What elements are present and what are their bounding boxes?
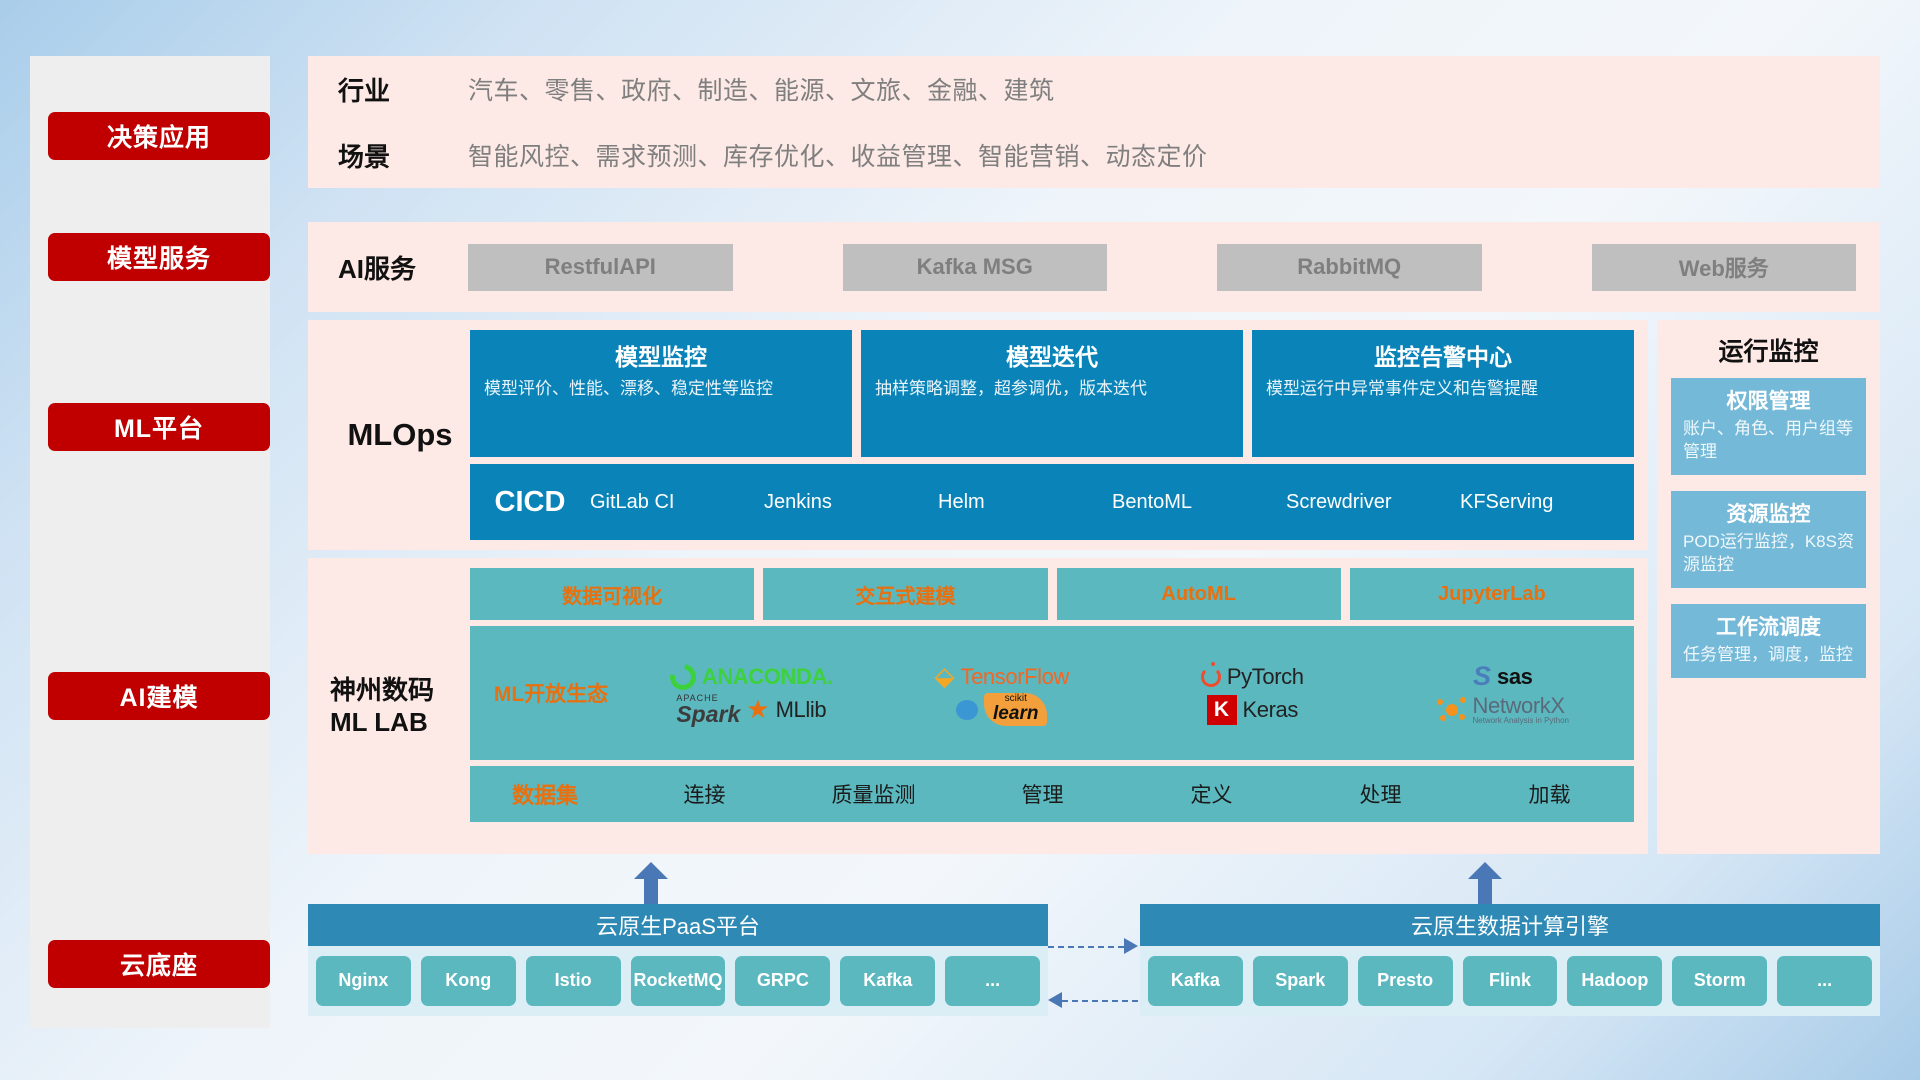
cicd-item-gitlab-ci[interactable]: GitLab CI [590, 491, 764, 514]
pytorch-logo-text: PyTorch [1227, 664, 1304, 690]
cicd-item-kfserving[interactable]: KFServing [1460, 491, 1634, 514]
ai-service-chip-restfulapi[interactable]: RestfulAPI [468, 244, 733, 291]
mlops-card-desc: 模型评价、性能、漂移、稳定性等监控 [484, 378, 838, 401]
bidirectional-link-arrows [1048, 934, 1142, 1020]
pytorch-logo: PyTorch [1127, 660, 1378, 693]
layer-chip-label: 模型服务 [107, 239, 211, 275]
scikit-learn-logo: scikit learn [877, 693, 1128, 726]
layer-chip-cloud-base[interactable]: 云底座 [48, 940, 270, 988]
mlops-card-desc: 模型运行中异常事件定义和告警提醒 [1266, 378, 1620, 401]
tensorflow-mark-icon: ⬙ [935, 661, 955, 692]
dataset-item-definition[interactable]: 定义 [1127, 779, 1296, 809]
layer-chip-label: AI建模 [119, 678, 198, 714]
scenario-value: 智能风控、需求预测、库存优化、收益管理、智能营销、动态定价 [468, 137, 1208, 173]
run-monitoring-title: 运行监控 [1657, 320, 1880, 378]
ml-lab-label: 神州数码 ML LAB [330, 568, 470, 844]
scenario-row: 场景 智能风控、需求预测、库存优化、收益管理、智能营销、动态定价 [308, 122, 1880, 188]
tool-tab-interactive-modeling[interactable]: 交互式建模 [763, 568, 1047, 620]
cicd-item-bentoml[interactable]: BentoML [1112, 491, 1286, 514]
data-engine-header: 云原生数据计算引擎 [1140, 904, 1880, 946]
ai-service-label: AI服务 [338, 249, 468, 286]
decision-application-panel: 行业 汽车、零售、政府、制造、能源、文旅、金融、建筑 场景 智能风控、需求预测、… [308, 56, 1880, 188]
pytorch-flame-icon [1201, 667, 1221, 687]
run-monitoring-card-desc: 任务管理，调度，监控 [1683, 644, 1854, 667]
ai-service-chip-web-service[interactable]: Web服务 [1592, 244, 1857, 291]
spark-star-icon: ★ [746, 694, 769, 725]
data-engine-chip-presto[interactable]: Presto [1358, 956, 1453, 1006]
tensorflow-logo-text: TensorFlow [961, 664, 1069, 690]
architecture-diagram: 决策应用 模型服务 ML平台 AI建模 云底座 行业 汽车、零售、政府、制造、能… [0, 0, 1920, 1080]
cloud-native-data-engine-group: 云原生数据计算引擎 Kafka Spark Presto Flink Hadoo… [1140, 904, 1880, 1016]
paas-chip-kong[interactable]: Kong [421, 956, 516, 1006]
dataset-item-connect[interactable]: 连接 [620, 779, 789, 809]
run-monitoring-panel: 运行监控 权限管理 账户、角色、用户组等管理 资源监控 POD运行监控，K8S资… [1657, 320, 1880, 854]
dataset-item-processing[interactable]: 处理 [1296, 779, 1465, 809]
mlops-card-title: 模型迭代 [875, 338, 1229, 372]
spark-wordmark: APACHE Spark [676, 694, 740, 726]
spark-word-text: Spark [676, 703, 740, 726]
anaconda-logo: ANACONDA. [626, 660, 877, 693]
run-monitoring-card-title: 权限管理 [1683, 385, 1854, 415]
ml-lab-label-line2: ML LAB [330, 706, 434, 739]
data-engine-chip-more[interactable]: ... [1777, 956, 1872, 1006]
tool-tab-jupyterlab[interactable]: JupyterLab [1350, 568, 1634, 620]
tool-tab-automl[interactable]: AutoML [1057, 568, 1341, 620]
mlops-label: MLOps [330, 330, 470, 540]
cicd-item-jenkins[interactable]: Jenkins [764, 491, 938, 514]
cloud-native-paas-group: 云原生PaaS平台 Nginx Kong Istio RocketMQ GRPC… [308, 904, 1048, 1016]
data-engine-chip-flink[interactable]: Flink [1463, 956, 1558, 1006]
paas-chip-rocketmq[interactable]: RocketMQ [631, 956, 726, 1006]
mlops-card-model-iteration[interactable]: 模型迭代 抽样策略调整，超参调优，版本迭代 [861, 330, 1243, 457]
anaconda-ring-icon [665, 658, 701, 694]
data-engine-chip-spark[interactable]: Spark [1253, 956, 1348, 1006]
run-monitoring-card-title: 资源监控 [1683, 498, 1854, 528]
layer-chip-label: 云底座 [120, 946, 198, 982]
keras-logo: K Keras [1127, 693, 1378, 726]
layer-chip-ml-platform[interactable]: ML平台 [48, 403, 270, 451]
anaconda-logo-text: ANACONDA. [702, 664, 833, 690]
layer-chip-label: 决策应用 [107, 118, 211, 154]
dataset-item-management[interactable]: 管理 [958, 779, 1127, 809]
scikit-learn-text: learn [993, 704, 1038, 723]
run-monitoring-card-resources[interactable]: 资源监控 POD运行监控，K8S资源监控 [1671, 491, 1866, 588]
networkx-logo-text: NetworkX [1473, 695, 1570, 717]
dataset-item-quality-monitoring[interactable]: 质量监测 [789, 779, 958, 809]
sas-logo: S sas [1378, 660, 1629, 693]
dataset-bar: 数据集 连接 质量监测 管理 定义 处理 加载 [470, 766, 1634, 822]
mllib-logo-text: MLlib [776, 697, 827, 723]
paas-chip-grpc[interactable]: GRPC [735, 956, 830, 1006]
run-monitoring-card-permissions[interactable]: 权限管理 账户、角色、用户组等管理 [1671, 378, 1866, 475]
mlops-panel: MLOps 模型监控 模型评价、性能、漂移、稳定性等监控 模型迭代 抽样策略调整… [308, 320, 1648, 550]
ai-service-panel: AI服务 RestfulAPI Kafka MSG RabbitMQ Web服务 [308, 222, 1880, 312]
data-engine-chip-storm[interactable]: Storm [1672, 956, 1767, 1006]
mlops-card-title: 监控告警中心 [1266, 338, 1620, 372]
run-monitoring-card-title: 工作流调度 [1683, 611, 1854, 641]
tool-tab-data-visualization[interactable]: 数据可视化 [470, 568, 754, 620]
industry-value: 汽车、零售、政府、制造、能源、文旅、金融、建筑 [468, 71, 1055, 107]
paas-chip-istio[interactable]: Istio [526, 956, 621, 1006]
cicd-bar: CICD GitLab CI Jenkins Helm BentoML Scre… [470, 464, 1634, 540]
data-engine-chip-kafka[interactable]: Kafka [1148, 956, 1243, 1006]
keras-logo-text: Keras [1243, 697, 1298, 723]
ml-lab-label-line1: 神州数码 [330, 674, 434, 707]
ai-service-chip-kafka-msg[interactable]: Kafka MSG [843, 244, 1108, 291]
mlops-card-desc: 抽样策略调整，超参调优，版本迭代 [875, 378, 1229, 401]
dataset-label: 数据集 [470, 778, 620, 810]
mlops-card-title: 模型监控 [484, 338, 838, 372]
up-arrow-paas-to-platform [634, 862, 668, 904]
ai-service-chip-rabbitmq[interactable]: RabbitMQ [1217, 244, 1482, 291]
data-engine-chip-hadoop[interactable]: Hadoop [1567, 956, 1662, 1006]
keras-k-icon: K [1207, 695, 1237, 725]
scikit-blob-icon [956, 700, 978, 720]
paas-header: 云原生PaaS平台 [308, 904, 1048, 946]
dataset-item-loading[interactable]: 加载 [1465, 779, 1634, 809]
layer-chip-ai-modeling[interactable]: AI建模 [48, 672, 270, 720]
up-arrow-data-engine-to-platform [1468, 862, 1502, 904]
layer-chip-label: ML平台 [114, 409, 204, 445]
layer-rail [30, 56, 270, 1028]
networkx-logo: NetworkX Network Analysis in Python [1378, 693, 1629, 726]
industry-label: 行业 [338, 71, 468, 108]
run-monitoring-card-desc: 账户、角色、用户组等管理 [1683, 418, 1854, 464]
mlops-card-model-monitoring[interactable]: 模型监控 模型评价、性能、漂移、稳定性等监控 [470, 330, 852, 457]
sas-logo-text: sas [1497, 664, 1533, 690]
industry-row: 行业 汽车、零售、政府、制造、能源、文旅、金融、建筑 [308, 56, 1880, 122]
ml-open-ecosystem: ML开放生态 ANACONDA. ⬙ TensorFlow [470, 626, 1634, 760]
paas-chip-more[interactable]: ... [945, 956, 1040, 1006]
ai-modeling-panel: 神州数码 ML LAB 数据可视化 交互式建模 AutoML JupyterLa… [308, 558, 1648, 854]
run-monitoring-card-desc: POD运行监控，K8S资源监控 [1683, 531, 1854, 577]
run-monitoring-card-workflow[interactable]: 工作流调度 任务管理，调度，监控 [1671, 604, 1866, 678]
layer-chip-model-service[interactable]: 模型服务 [48, 233, 270, 281]
ml-open-ecosystem-label: ML开放生态 [476, 678, 626, 708]
sas-s-icon: S [1473, 661, 1491, 692]
layer-chip-decision-app[interactable]: 决策应用 [48, 112, 270, 160]
paas-chip-nginx[interactable]: Nginx [316, 956, 411, 1006]
spark-mllib-logo: APACHE Spark ★ MLlib [626, 693, 877, 726]
scenario-label: 场景 [338, 137, 468, 174]
mlops-card-alert-center[interactable]: 监控告警中心 模型运行中异常事件定义和告警提醒 [1252, 330, 1634, 457]
cicd-item-screwdriver[interactable]: Screwdriver [1286, 491, 1460, 514]
cicd-label: CICD [470, 486, 590, 519]
networkx-tagline: Network Analysis in Python [1473, 717, 1570, 725]
tensorflow-logo: ⬙ TensorFlow [877, 660, 1128, 693]
paas-chip-kafka[interactable]: Kafka [840, 956, 935, 1006]
cicd-item-helm[interactable]: Helm [938, 491, 1112, 514]
networkx-graph-icon [1437, 697, 1467, 723]
